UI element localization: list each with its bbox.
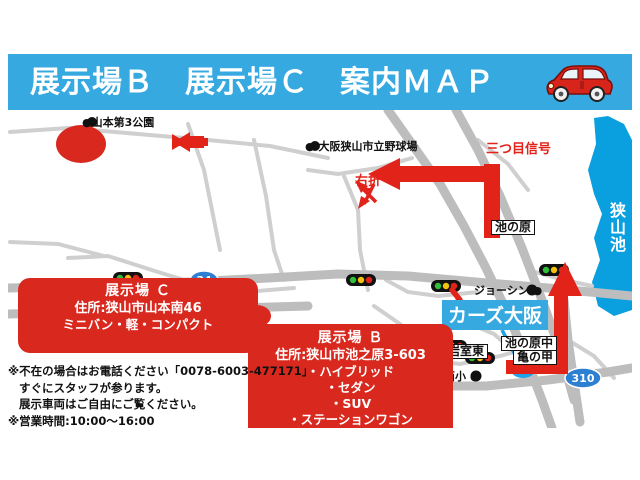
annotation-third-signal: 三つ目信号 xyxy=(486,138,551,157)
annotation-turn-right: 右折 xyxy=(355,170,381,189)
arrow-left-top xyxy=(172,132,208,152)
poi-bullet: ● xyxy=(305,140,315,153)
map-flyer: 展示場Ｂ 展示場Ｃ 案内ＭＡＰ xyxy=(0,0,640,480)
poi-label-baseball-stadium: ● 大阪狭山市立野球場 xyxy=(305,138,417,154)
poi-label-joshin: ジョーシン ● xyxy=(474,282,542,298)
callout-venue-c-types: ミニバン・軽・コンパクト xyxy=(18,317,258,333)
callout-venue-b-title: 展示場 Ｂ xyxy=(248,330,453,347)
footer-notes: ※不在の場合はお電話ください「0078-6003-477171」 すぐにスタッフ… xyxy=(8,363,308,429)
intersection-ikenohara-naka: 池の原中 xyxy=(501,336,557,351)
svg-text:310: 310 xyxy=(572,372,595,385)
note-line-2: すぐにスタッフが参ります。 xyxy=(8,380,308,397)
poi-bullet: ● xyxy=(82,116,92,129)
arrow-third-signal-route xyxy=(368,158,500,238)
page-title: 展示場Ｂ 展示場Ｃ 案内ＭＡＰ xyxy=(30,60,550,106)
red-car-icon xyxy=(538,58,618,106)
note-line-3: 展示車両はご自由にご覧ください。 xyxy=(8,396,308,413)
callout-venue-c: 展示場 Ｃ 住所:狭山市山本南46 ミニバン・軽・コンパクト xyxy=(18,278,258,353)
sayama-pond-label: 狭山池 xyxy=(609,202,627,253)
callout-venue-c-title: 展示場 Ｃ xyxy=(18,283,258,300)
callout-venue-b-address: 住所:狭山市池之原3-603 xyxy=(248,347,453,364)
poi-bullet: ● xyxy=(533,284,543,297)
cars-osaka-badge: カーズ大阪 xyxy=(442,300,548,330)
venue-c-marker xyxy=(56,125,106,163)
intersection-kamenoko: 亀の甲 xyxy=(513,350,557,365)
intersection-ikenohara: 池の原 xyxy=(491,220,535,235)
note-line-1: ※不在の場合はお電話ください「0078-6003-477171」 xyxy=(8,363,308,380)
route-310-shield: 310 xyxy=(565,368,601,388)
poi-bullet: ● xyxy=(470,370,480,383)
callout-venue-c-address: 住所:狭山市山本南46 xyxy=(18,300,258,317)
poi-label-yamamoto-park: ●山本第3公園 xyxy=(82,114,154,130)
note-line-4: ※営業時間:10:00～16:00 xyxy=(8,413,308,430)
